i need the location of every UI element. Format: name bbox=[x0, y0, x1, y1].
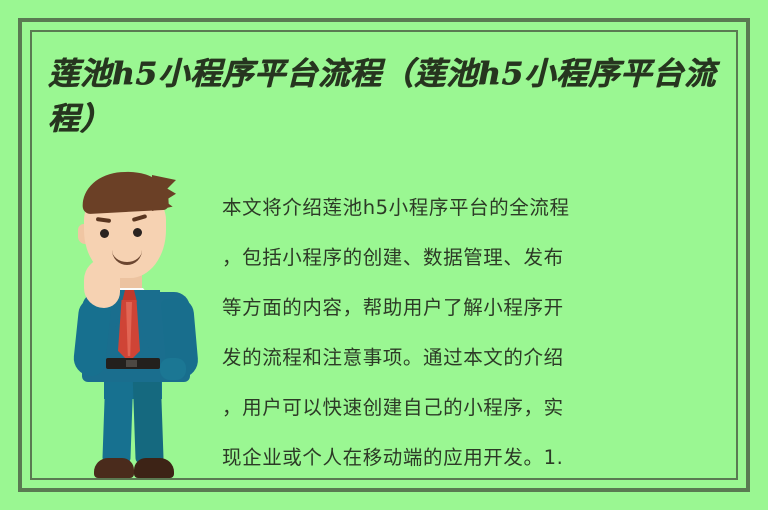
right-hand bbox=[160, 358, 186, 380]
body-line: 本文将介绍莲池h5小程序平台的全流程 bbox=[222, 183, 536, 233]
right-shoe bbox=[134, 458, 174, 478]
businessman-illustration bbox=[60, 172, 210, 490]
poster-canvas: 莲池h5小程序平台流程（莲池h5小程序平台流程） 本文将介绍莲池h5小程序平台的… bbox=[0, 0, 768, 510]
hair-tuft bbox=[152, 175, 176, 211]
right-eye bbox=[133, 228, 142, 237]
body-line: 现企业或个人在移动端的应用开发。1. bbox=[222, 433, 536, 483]
body-line: 发的流程和注意事项。通过本文的介绍 bbox=[222, 333, 536, 383]
belt-buckle-icon bbox=[126, 360, 137, 367]
left-shoe bbox=[94, 458, 134, 478]
body-line: 等方面的内容，帮助用户了解小程序开 bbox=[222, 283, 536, 333]
body-paragraph: 本文将介绍莲池h5小程序平台的全流程 ，包括小程序的创建、数据管理、发布 等方面… bbox=[222, 183, 536, 483]
body-line: ，用户可以快速创建自己的小程序，实 bbox=[222, 383, 536, 433]
left-eye bbox=[100, 229, 109, 238]
body-line: ，包括小程序的创建、数据管理、发布 bbox=[222, 233, 536, 283]
page-title: 莲池h5小程序平台流程（莲池h5小程序平台流程） bbox=[48, 52, 720, 142]
thinking-hand bbox=[84, 258, 120, 308]
